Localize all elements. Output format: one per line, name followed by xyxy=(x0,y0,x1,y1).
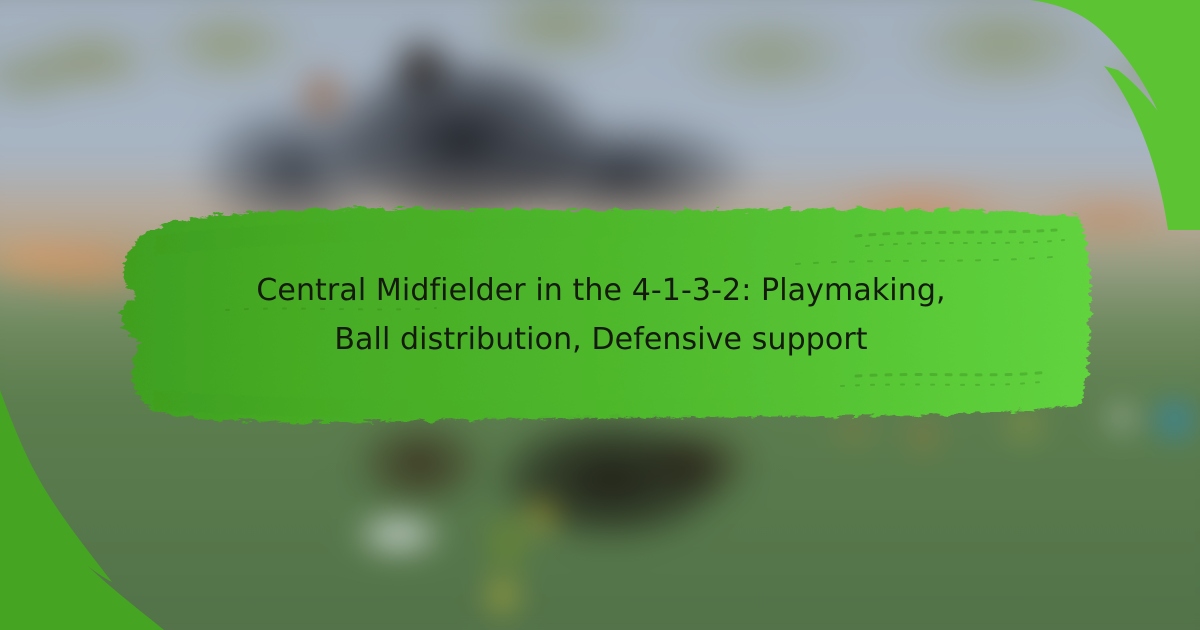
headline-line-1: Central Midfielder in the 4-1-3-2: Playm… xyxy=(256,269,945,312)
share-card-canvas: Central Midfielder in the 4-1-3-2: Playm… xyxy=(0,0,1200,630)
headline-block: Central Midfielder in the 4-1-3-2: Playm… xyxy=(96,190,1106,440)
headline-line-2: Ball distribution, Defensive support xyxy=(334,318,867,361)
